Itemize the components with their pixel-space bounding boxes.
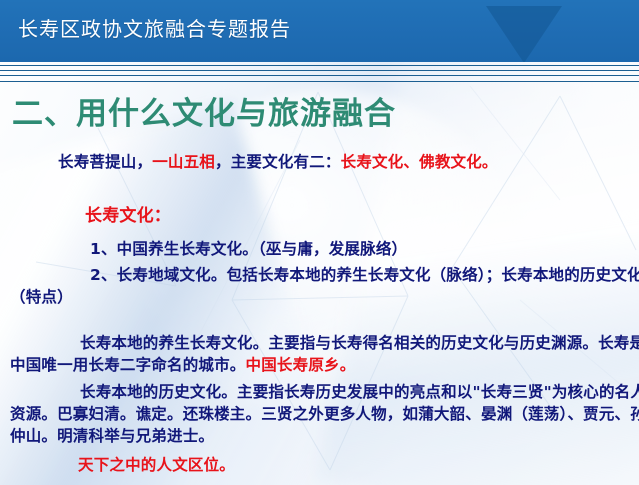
intro-text-highlight1: 一山五相: [152, 153, 215, 171]
report-title: 长寿区政协文旅融合专题报告: [18, 13, 291, 42]
list-item-1: 1、中国养生长寿文化。（巫与庸，发展脉络）: [0, 238, 639, 260]
header-divider-rules: [0, 62, 639, 84]
paragraph-block-1: 长寿本地的养生长寿文化。主要指与长寿得名相关的历史文化与历史渊源。长寿是中国唯一…: [0, 332, 639, 376]
paragraph-block-2: 长寿本地的历史文化。主要指长寿历史发展中的亮点和以"长寿三贤"为核心的名人资源。…: [0, 381, 639, 447]
intro-text-part1: 长寿菩提山，: [58, 153, 152, 171]
slide-heading: 二、用什么文化与旅游融合: [12, 88, 396, 133]
title-bar: 长寿区政协文旅融合专题报告: [0, 0, 639, 62]
divider-rule-1: [0, 65, 639, 66]
divider-rule-2: [0, 70, 639, 71]
intro-paragraph: 长寿菩提山，一山五相，主要文化有二：长寿文化、佛教文化。: [0, 151, 639, 173]
category-label: 长寿文化：: [0, 205, 639, 227]
intro-text-part3: ，主要文化有二：: [215, 153, 341, 171]
chevron-down-icon: [486, 6, 562, 62]
intro-text-highlight2: 长寿文化、佛教文化。: [341, 153, 498, 171]
presentation-slide: 长寿区政协文旅融合专题报告 二、用什么文化与旅游融合 长寿菩提山，一山五相，主要…: [0, 0, 639, 485]
block1-highlight: 中国长寿原乡。: [246, 356, 356, 374]
closing-highlight: 天下之中的人文区位。: [0, 454, 639, 476]
divider-rule-4: [0, 81, 639, 82]
list-item-2: 2、长寿地域文化。包括长寿本地的养生长寿文化（脉络）；长寿本地的历史文化（特点）: [0, 264, 639, 308]
divider-rule-3: [0, 75, 639, 76]
